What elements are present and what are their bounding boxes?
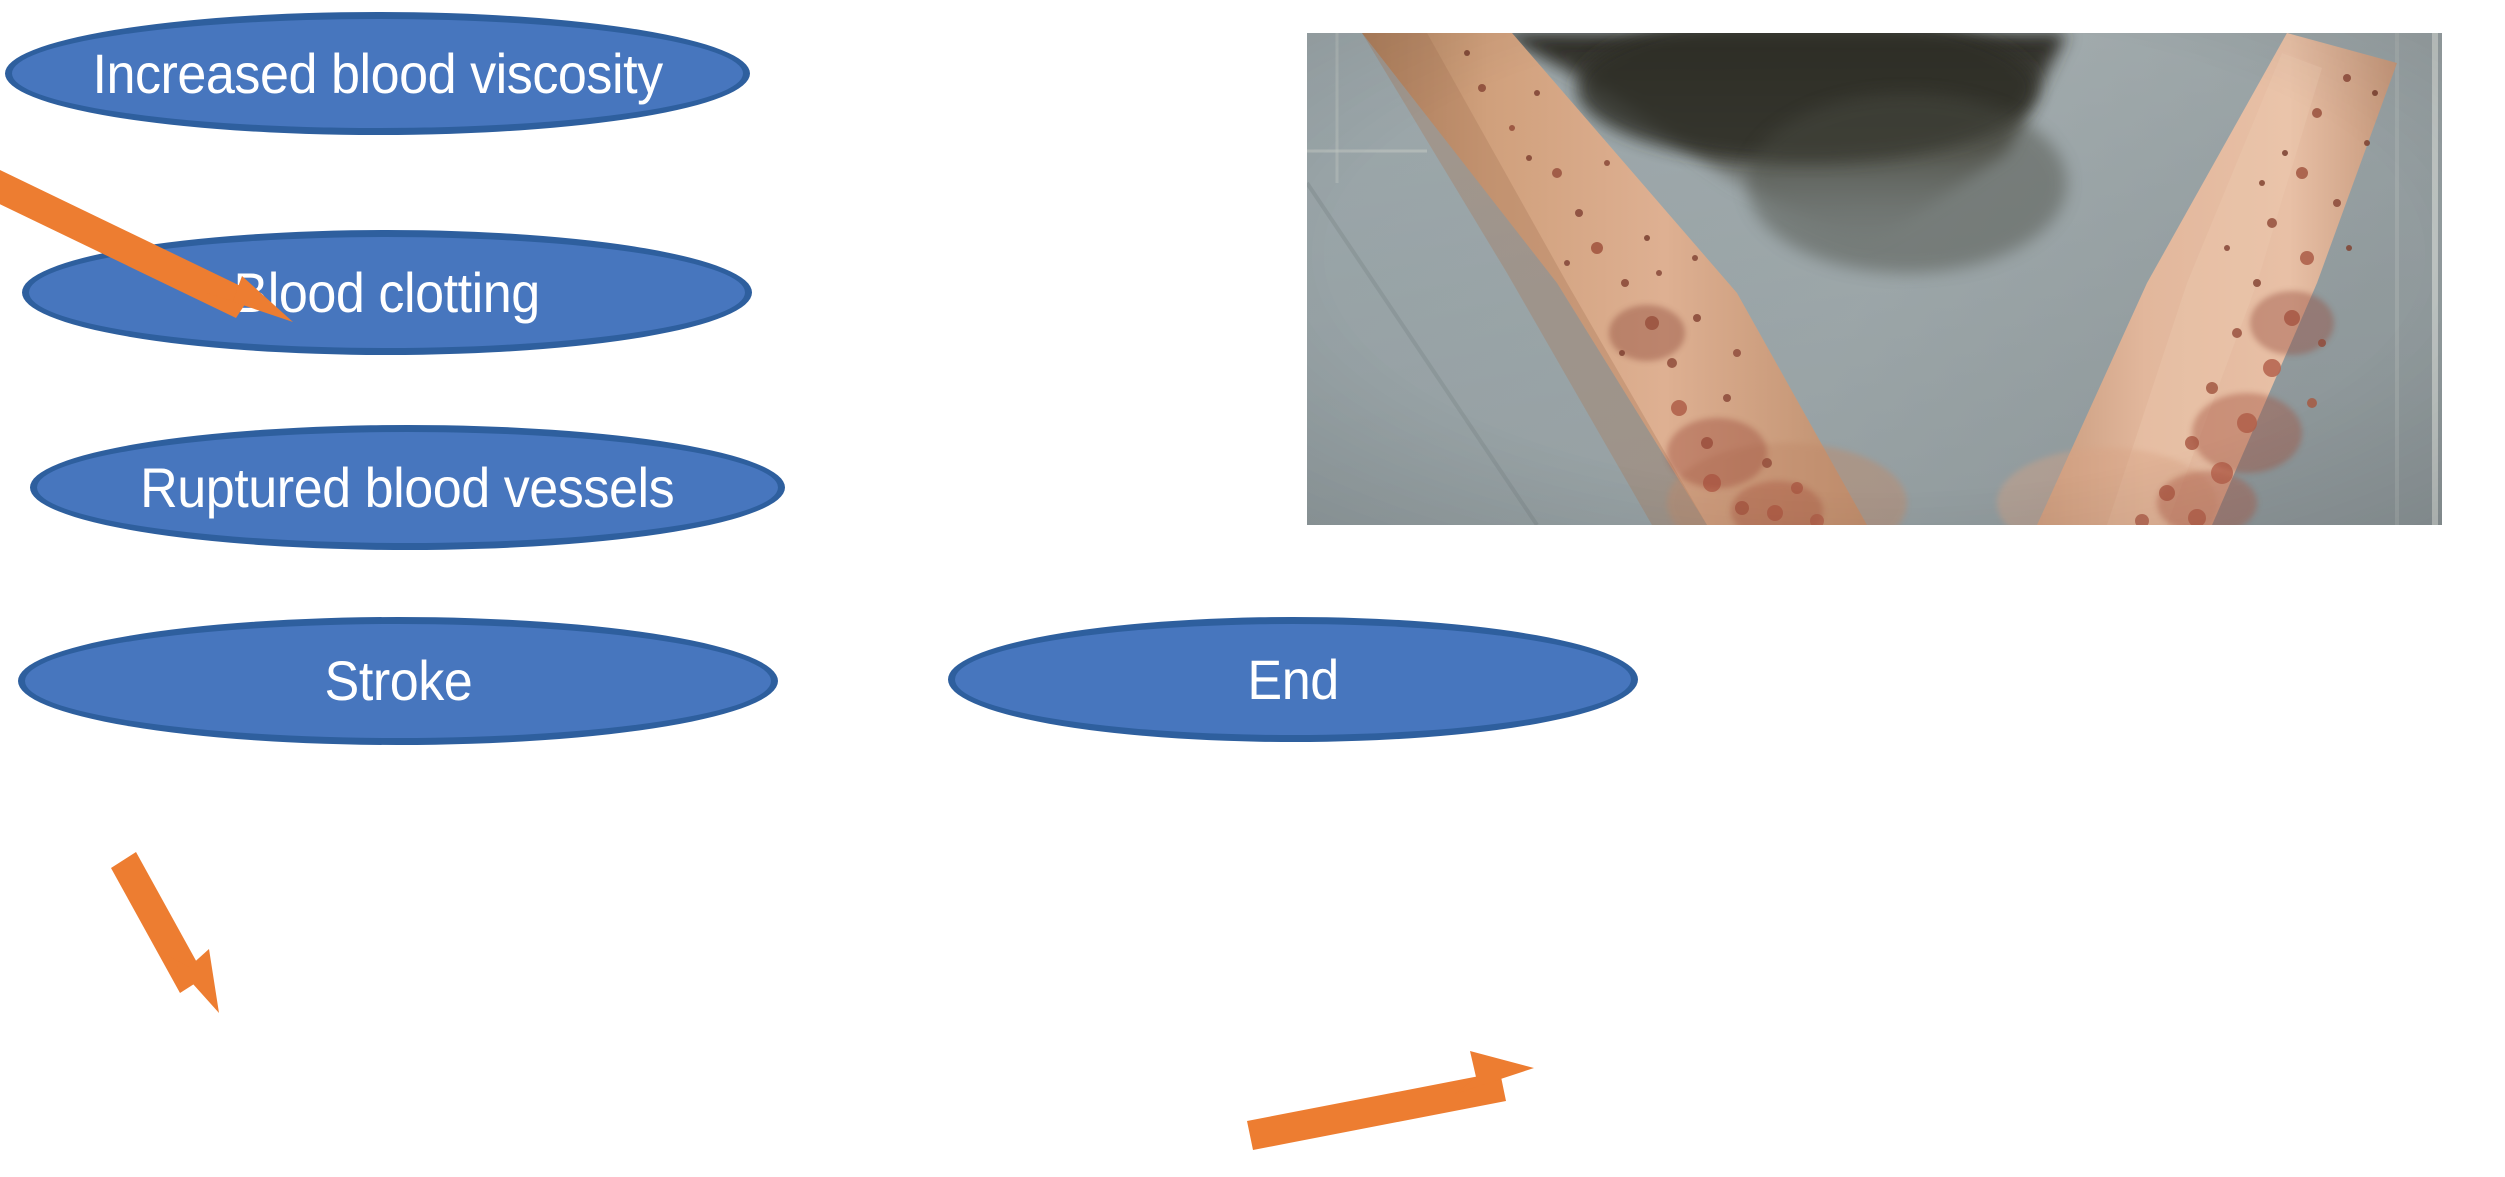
diagram-canvas: Increased blood viscosity Blood clotting… xyxy=(0,0,2505,1177)
node-end[interactable]: End xyxy=(948,617,1638,742)
node-label: Increased blood viscosity xyxy=(92,46,662,102)
node-ruptured-blood-vessels[interactable]: Ruptured blood vessels xyxy=(30,425,785,550)
node-label: Blood clotting xyxy=(234,265,540,321)
node-stroke[interactable]: Stroke xyxy=(18,617,778,745)
node-label: Stroke xyxy=(324,653,472,709)
clinical-photo-image xyxy=(1307,33,2442,525)
node-label: Ruptured blood vessels xyxy=(140,460,674,516)
node-label: End xyxy=(1247,652,1338,708)
node-increased-blood-viscosity[interactable]: Increased blood viscosity xyxy=(5,12,750,135)
clinical-photo xyxy=(1307,33,2442,525)
arrow-rupture-to-stroke-icon xyxy=(111,852,219,1013)
node-blood-clotting[interactable]: Blood clotting xyxy=(22,230,752,355)
arrow-stroke-to-end-icon xyxy=(1247,1051,1534,1150)
